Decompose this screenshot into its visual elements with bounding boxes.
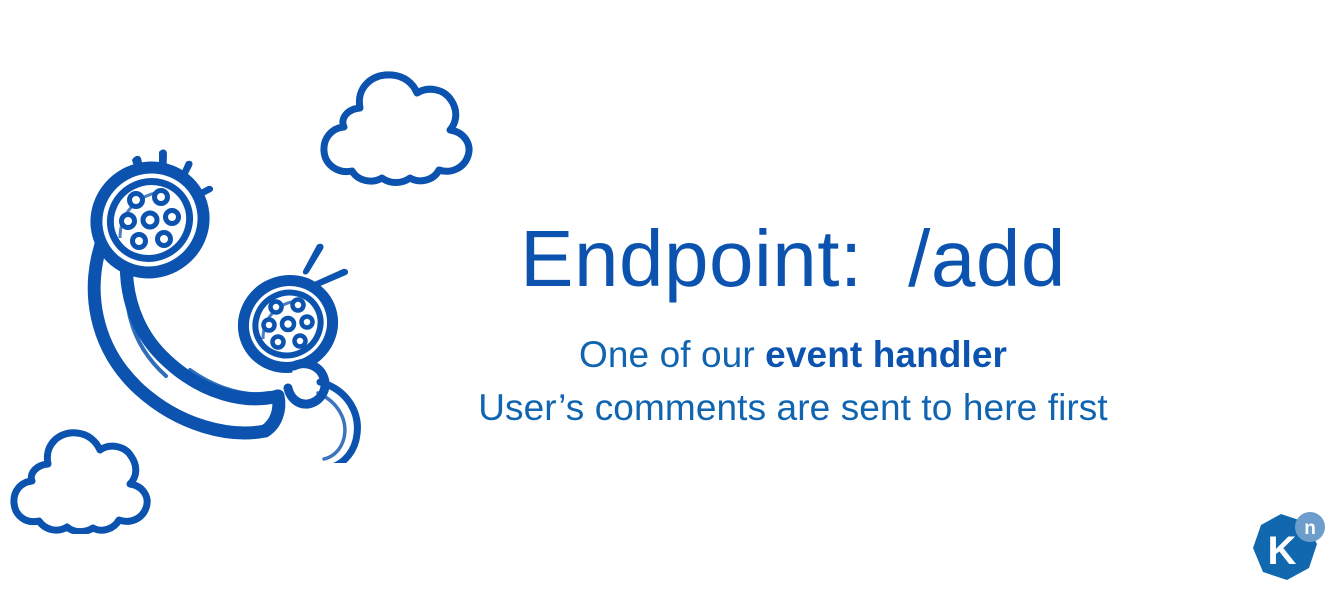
page-title: Endpoint: /add (440, 218, 1146, 300)
logo-letter-k: K (1268, 529, 1297, 573)
cloud-icon (8, 424, 158, 534)
slide-canvas: Endpoint: /add One of our event handler … (0, 0, 1343, 595)
telephone-handset-icon (62, 138, 382, 463)
subtitle-line-1-emphasis: event handler (765, 334, 1007, 375)
brand-logo: K n (1247, 508, 1327, 588)
subtitle-line-1: One of our event handler (440, 328, 1146, 382)
logo-letter-n: n (1304, 518, 1316, 539)
subtitle-group: One of our event handler User’s comments… (440, 328, 1146, 435)
slide-text-block: Endpoint: /add One of our event handler … (440, 218, 1146, 435)
subtitle-line-2: User’s comments are sent to here first (440, 381, 1146, 435)
cloud-icon (316, 64, 484, 186)
subtitle-line-1-prefix: One of our (579, 334, 765, 375)
